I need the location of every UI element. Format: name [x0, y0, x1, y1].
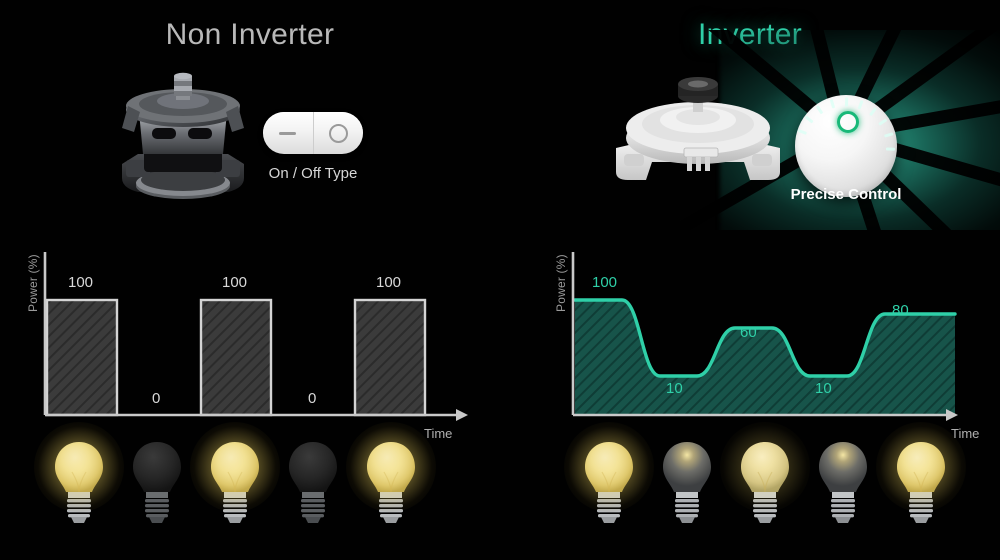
- dash-icon: [279, 132, 296, 135]
- bulb-1: [572, 432, 646, 532]
- bulb-4: [806, 432, 880, 532]
- y-axis-label-left: Power (%): [26, 254, 40, 312]
- x-axis-label-right: Time: [951, 426, 979, 441]
- light-bulb-icon: [120, 432, 194, 532]
- value-label-5: 100: [376, 274, 401, 291]
- washing-machine-motor-dark-icon: [108, 68, 258, 200]
- switch-off-side[interactable]: [263, 112, 313, 154]
- x-axis-arrow: [456, 409, 468, 421]
- circle-icon: [329, 124, 348, 143]
- light-bulb-icon: [276, 432, 350, 532]
- value-label-5: 80: [892, 302, 909, 319]
- value-label-2: 10: [666, 380, 683, 397]
- on-off-switch[interactable]: [263, 112, 363, 154]
- bulb-5: [354, 432, 428, 532]
- bulb-3: [198, 432, 272, 532]
- bulb-1: [42, 432, 116, 532]
- x-axis-label-left: Time: [424, 426, 452, 441]
- knob-caption: Precise Control: [746, 186, 946, 203]
- bulb-glow: [346, 422, 436, 512]
- value-label-4: 10: [815, 380, 832, 397]
- switch-caption: On / Off Type: [263, 165, 363, 182]
- light-bulb-icon: [650, 432, 724, 532]
- bulb-glow: [564, 422, 654, 512]
- value-label-3: 100: [222, 274, 247, 291]
- bulb-2: [650, 432, 724, 532]
- chart-svg-inverter: [500, 248, 1000, 448]
- value-label-1: 100: [592, 274, 617, 291]
- bulb-glow: [720, 422, 810, 512]
- y-axis-label-right: Power (%): [554, 254, 568, 312]
- switch-on-side[interactable]: [314, 112, 364, 154]
- panel-non-inverter: Non Inverter: [0, 0, 500, 560]
- bulb-3: [728, 432, 802, 532]
- bulb-glow: [190, 422, 280, 512]
- square-wave-bars: [47, 300, 425, 415]
- value-label-1: 100: [68, 274, 93, 291]
- panel-inverter: Inverter: [500, 0, 1000, 560]
- chart-inverter: 100 10 60 10 80: [500, 248, 1000, 448]
- value-label-2: 0: [152, 390, 160, 407]
- chart-non-inverter: 100 0 100 0 100: [0, 248, 500, 448]
- knob-tick-ring: [795, 95, 897, 197]
- value-label-4: 0: [308, 390, 316, 407]
- bulb-glow: [34, 422, 124, 512]
- motor-image-non-inverter: [108, 68, 258, 200]
- page-title-non-inverter: Non Inverter: [0, 18, 500, 52]
- value-label-3: 60: [740, 324, 757, 341]
- washing-machine-motor-white-icon: [608, 76, 788, 196]
- bulb-5: [884, 432, 958, 532]
- bulb-2: [120, 432, 194, 532]
- motor-image-inverter: [608, 76, 788, 196]
- bulb-4: [276, 432, 350, 532]
- light-bulb-icon: [806, 432, 880, 532]
